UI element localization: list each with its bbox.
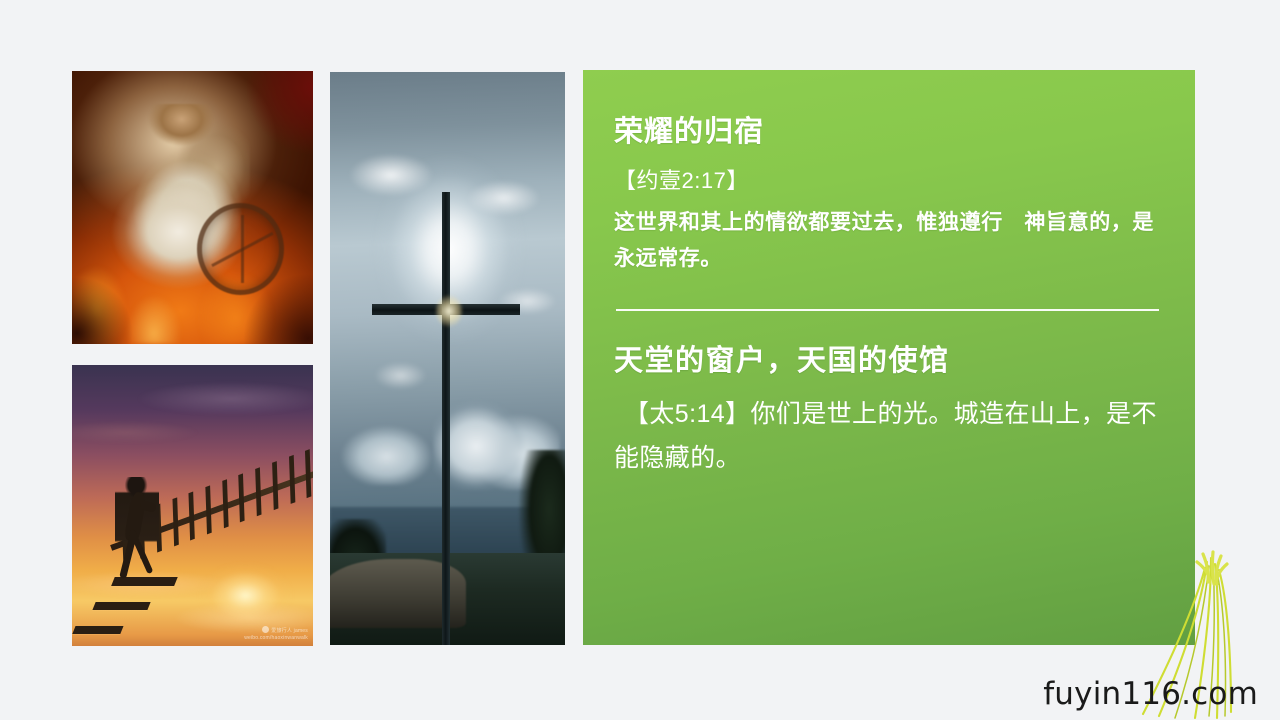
site-watermark: fuyin116.com [1043,676,1258,712]
scripture-panel: 荣耀的归宿 【约壹2:17】 这世界和其上的情欲都要过去，惟独遵行 神旨意的，是… [583,70,1195,645]
chariot-vignette-layer [72,71,313,344]
cross-upright-post [442,192,450,645]
ladder-rung [305,449,311,498]
ladder-rung [288,455,294,504]
ladder-rung [238,473,244,522]
chariot-artwork [72,71,313,344]
cross-artwork [330,72,565,645]
section-one-title: 荣耀的归宿 [614,116,1161,148]
floating-step [92,602,151,610]
weibo-watermark: 爱旅行人 james weibo.com/haoxinwanwalk [244,626,308,642]
weibo-watermark-line1: 爱旅行人 james [244,626,308,635]
section-one-reference: 【约壹2:17】 [614,166,1161,196]
ladder-rung [171,497,177,546]
floating-step [73,626,124,634]
slide-canvas: 爱旅行人 james weibo.com/haoxinwanwalk 荣耀的归宿… [0,0,1280,720]
section-two-title: 天堂的窗户，天国的使馆 [614,345,1161,377]
ladder-rung [188,491,194,540]
sun-glow [197,562,293,629]
weibo-logo-icon [262,626,269,633]
ladder-rung [255,467,261,516]
ladder-rung [205,485,211,534]
image-cross-against-sky [330,72,565,645]
section-divider [616,309,1159,311]
cumulus-cloud-left [335,422,438,485]
sun-flare-icon [436,295,462,327]
weibo-watermark-line2: weibo.com/haoxinwanwalk [244,635,308,642]
image-elijah-fiery-chariot-painting [72,71,313,344]
climbing-person-silhouette [115,477,158,578]
ladder-rung [221,479,227,528]
image-ladder-to-sky-silhouette: 爱旅行人 james weibo.com/haoxinwanwalk [72,365,313,646]
ladder-artwork: 爱旅行人 james weibo.com/haoxinwanwalk [72,365,313,646]
section-one-verse: 这世界和其上的情欲都要过去，惟独遵行 神旨意的，是永远常存。 [614,205,1161,277]
ladder-rung [271,461,277,510]
section-two-verse: 【太5:14】你们是世上的光。城造在山上，是不能隐藏的。 [614,392,1161,481]
